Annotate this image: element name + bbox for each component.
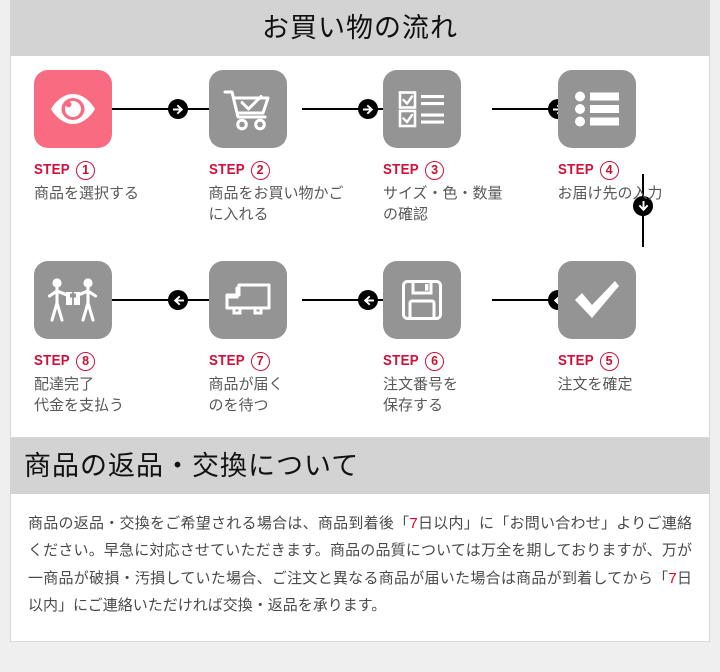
flow-step-5[interactable]: STEP 5 注文を確定 <box>535 247 710 438</box>
flow-row-top-cells: STEP 1 商品を選択する <box>11 56 709 247</box>
step-5-label: STEP 5 <box>558 351 710 371</box>
step-5-tile <box>558 261 636 339</box>
step-7-description: 商品が届く のを待つ <box>209 374 361 417</box>
flow-row-bottom: STEP 8 配達完了 代金を支払う <box>11 247 709 438</box>
step-3-label: STEP 3 <box>383 160 535 180</box>
step-2-number: 2 <box>251 161 270 180</box>
step-6-number: 6 <box>425 352 444 371</box>
shopping-cart-check-icon <box>223 87 273 131</box>
flow-step-3[interactable]: STEP 3 サイズ・色・数量 の確認 <box>360 56 535 247</box>
step-5-number: 5 <box>600 352 619 371</box>
step-1-label: STEP 1 <box>34 160 186 180</box>
step-7-word: STEP <box>209 353 245 369</box>
step-4-number: 4 <box>600 161 619 180</box>
step-8-word: STEP <box>34 353 70 369</box>
step-4-tile <box>558 70 636 148</box>
step-1-word: STEP <box>34 162 70 178</box>
step-4-label: STEP 4 <box>558 160 710 180</box>
policy-panel: 商品の返品・交換をご希望される場合は、商品到着後「7日以内」に「お問い合わせ」よ… <box>10 494 710 642</box>
floppy-disk-save-icon <box>401 279 443 321</box>
step-2-label: STEP 2 <box>209 160 361 180</box>
eye-icon <box>48 91 98 127</box>
step-6-label: STEP 6 <box>383 351 535 371</box>
step-2-tile <box>209 70 287 148</box>
step-6-tile <box>383 261 461 339</box>
step-1-tile <box>34 70 112 148</box>
step-2-word: STEP <box>209 162 245 178</box>
package-handoff-icon <box>47 277 99 323</box>
flow-row-bottom-cells: STEP 8 配達完了 代金を支払う <box>11 247 709 438</box>
step-8-tile <box>34 261 112 339</box>
step-6-word: STEP <box>383 353 419 369</box>
policy-section-title: 商品の返品・交換について <box>24 453 359 480</box>
step-7-tile <box>209 261 287 339</box>
policy-highlight-days-2: 7 <box>668 570 676 587</box>
flow-step-2[interactable]: STEP 2 商品をお買い物かご に入れる <box>186 56 361 247</box>
step-1-description: 商品を選択する <box>34 183 186 204</box>
step-3-word: STEP <box>383 162 419 178</box>
flow-step-4[interactable]: STEP 4 お届け先の入力 <box>535 56 710 247</box>
step-3-tile <box>383 70 461 148</box>
step-4-word: STEP <box>558 162 594 178</box>
step-1-number: 1 <box>76 161 95 180</box>
delivery-truck-icon <box>222 281 274 319</box>
flow-section-title: お買い物の流れ <box>262 15 458 42</box>
flow-diagram-panel: STEP 1 商品を選択する <box>10 56 710 438</box>
step-3-number: 3 <box>425 161 444 180</box>
checklist-icon <box>398 90 446 128</box>
step-6-description: 注文番号を 保存する <box>383 374 535 417</box>
step-8-description: 配達完了 代金を支払う <box>34 374 186 417</box>
policy-highlight-days-1: 7 <box>409 515 417 532</box>
step-4-description: お届け先の入力 <box>558 183 710 204</box>
flow-step-6[interactable]: STEP 6 注文番号を 保存する <box>360 247 535 438</box>
policy-text-part1: 商品の返品・交換をご希望される場合は、商品到着後「 <box>28 515 409 532</box>
step-7-number: 7 <box>251 352 270 371</box>
flow-section-header: お買い物の流れ <box>10 0 710 56</box>
shopping-flow-page: お買い物の流れ <box>0 0 720 672</box>
flow-row-top: STEP 1 商品を選択する <box>11 56 709 247</box>
step-7-label: STEP 7 <box>209 351 361 371</box>
step-8-label: STEP 8 <box>34 351 186 371</box>
step-5-description: 注文を確定 <box>558 374 710 395</box>
checkmark-icon <box>571 278 623 322</box>
step-5-word: STEP <box>558 353 594 369</box>
step-8-number: 8 <box>76 352 95 371</box>
bulleted-list-icon <box>574 91 620 127</box>
policy-section-header: 商品の返品・交換について <box>10 438 710 494</box>
flow-step-8[interactable]: STEP 8 配達完了 代金を支払う <box>11 247 186 438</box>
step-3-description: サイズ・色・数量 の確認 <box>383 183 535 226</box>
policy-paragraph: 商品の返品・交換をご希望される場合は、商品到着後「7日以内」に「お問い合わせ」よ… <box>11 494 709 619</box>
step-2-description: 商品をお買い物かご に入れる <box>209 183 361 226</box>
flow-step-1[interactable]: STEP 1 商品を選択する <box>11 56 186 247</box>
flow-step-7[interactable]: STEP 7 商品が届く のを待つ <box>186 247 361 438</box>
